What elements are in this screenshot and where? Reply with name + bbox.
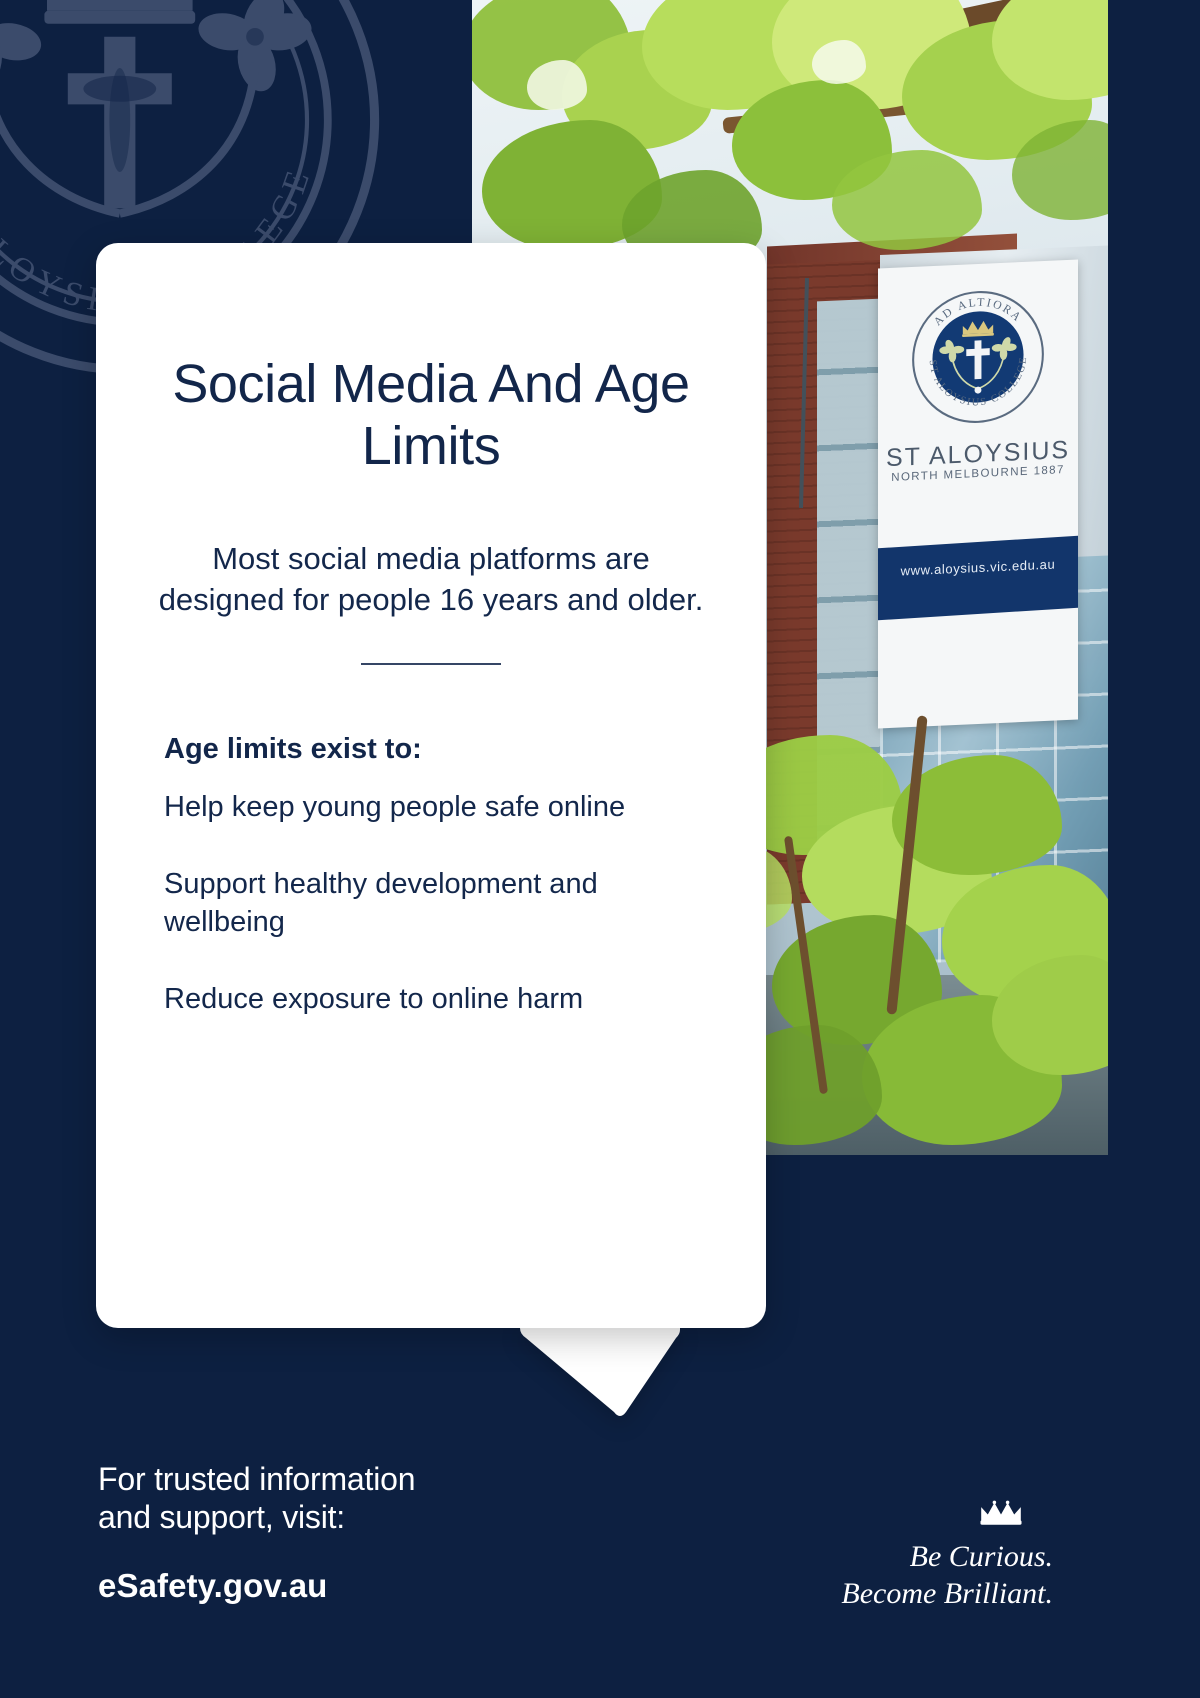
section-heading: Age limits exist to: <box>164 732 704 767</box>
brand-lockup: Be Curious. Become Brilliant. <box>700 1500 1075 1612</box>
footer-cta-line-1: For trusted information <box>98 1460 618 1498</box>
esafety-url[interactable]: eSafety.gov.au <box>98 1567 618 1605</box>
background-filler <box>1108 0 1200 1698</box>
school-banner: AD ALTIORA ST ALOYSIUS COLLEGE <box>878 259 1078 728</box>
content-card: Social Media And Age Limits Most social … <box>96 243 766 1328</box>
reasons-list: Help keep young people safe online Suppo… <box>164 788 704 1056</box>
list-item: Reduce exposure to online harm <box>164 980 704 1019</box>
crown-icon <box>44 0 195 24</box>
poster-canvas: AD ALTIORA ST ALOYSIUS COLLEGE <box>0 0 1108 1698</box>
footer-cta: For trusted information and support, vis… <box>98 1460 618 1605</box>
cross-icon <box>68 37 172 209</box>
crown-icon <box>979 1500 1023 1526</box>
lede-paragraph: Most social media platforms are designed… <box>158 539 704 621</box>
flower-icon <box>0 0 314 214</box>
list-item: Help keep young people safe online <box>164 788 704 827</box>
footer-cta-line-2: and support, visit: <box>98 1498 618 1536</box>
page-title: Social Media And Age Limits <box>154 354 708 477</box>
brand-tagline-line-2: Become Brilliant. <box>700 1576 1075 1613</box>
brand-tagline-line-1: Be Curious. <box>700 1539 1075 1576</box>
banner-seal-icon: AD ALTIORA ST ALOYSIUS COLLEGE <box>909 285 1047 429</box>
divider <box>361 663 501 665</box>
list-item: Support healthy development and wellbein… <box>164 865 704 942</box>
